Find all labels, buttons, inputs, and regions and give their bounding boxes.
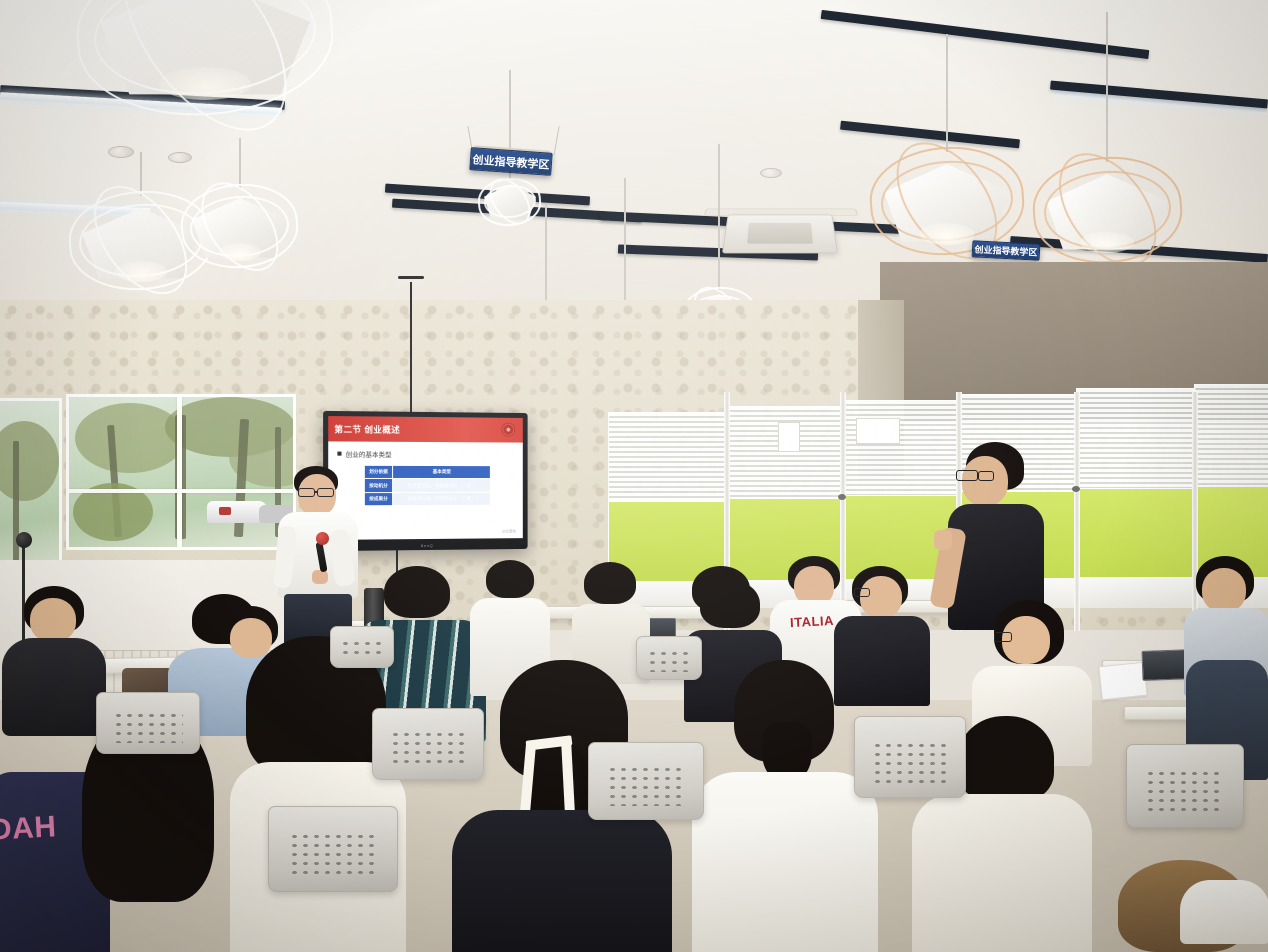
student-head (1202, 568, 1246, 612)
lamp-cord (239, 138, 241, 188)
shirt-logo-text: ITALIA (790, 613, 835, 630)
chair-perforation (872, 741, 948, 784)
classroom-photo: 创业指导教学区 创业指导教学区 (0, 0, 1268, 952)
lamp-cord (624, 178, 626, 306)
pendant-lamp (484, 180, 536, 224)
ceiling-speaker (168, 152, 192, 163)
classroom-chair[interactable] (96, 692, 200, 754)
chair-perforation (607, 765, 686, 806)
window-mullion (177, 397, 182, 547)
pendant-lamp (884, 152, 1010, 252)
chair-perforation (1145, 769, 1225, 813)
table-header-cell: 划分依据 (364, 465, 392, 479)
partition-glass (1194, 384, 1268, 487)
ceiling-speaker (108, 146, 134, 158)
table-row-value: 生存型创业、机会型创业（二类） (393, 479, 491, 492)
lamp-cord (1106, 12, 1108, 162)
university-emblem-icon (502, 423, 516, 437)
partition-knob (838, 494, 846, 500)
pendant-lamp (192, 188, 288, 266)
glasses-icon (956, 470, 978, 481)
pendant-lamp (82, 196, 200, 288)
student-head (962, 456, 1008, 506)
lamp-glow (919, 223, 974, 245)
slide-bullet-text: 创业的基本类型 (346, 449, 392, 459)
car-outside (207, 501, 267, 523)
slide-title-band: 第二节 创业概述 (328, 416, 523, 443)
table-row-label: 按动机分 (364, 479, 392, 493)
student-hand (934, 530, 952, 550)
lamp-wireframe (477, 176, 544, 228)
student-hair (700, 580, 760, 628)
chair-perforation (647, 649, 692, 672)
student-foreground-center-left (236, 636, 396, 952)
ceiling-sign-rear: 创业指导教学区 (972, 240, 1041, 261)
lamp-cord (140, 152, 142, 196)
chair-perforation (113, 711, 184, 743)
partition-base (1076, 577, 1196, 608)
partition-green-panel (1076, 489, 1196, 577)
partition-glass (608, 412, 728, 502)
classroom-chair[interactable] (1126, 744, 1244, 828)
student-shirt (692, 772, 878, 952)
tv-cable (410, 282, 412, 414)
glasses-icon (317, 488, 334, 497)
classroom-chair[interactable] (636, 636, 702, 680)
pendant-lamp (1046, 162, 1168, 260)
classroom-chair[interactable] (588, 742, 704, 820)
lamp-glow (219, 243, 261, 260)
classroom-chair[interactable] (330, 626, 394, 668)
tv-cable (398, 276, 424, 279)
window-mullion (69, 489, 293, 493)
student-foreground-white (700, 660, 870, 952)
mic-head-icon (16, 532, 32, 548)
paper-sheet (1098, 662, 1147, 701)
table-row-label: 按成果分 (364, 492, 392, 506)
slide-footer: 创业基础 (502, 529, 516, 534)
partition-panel (1076, 388, 1196, 608)
classroom-chair[interactable] (268, 806, 398, 892)
classroom-chair[interactable] (372, 708, 484, 780)
pendant-lamp (100, 0, 310, 110)
slide-table: 划分依据 基本类型 按动机分 生存型创业、机会型创业（二类） 按成果分 创建新公… (364, 465, 491, 507)
student-shirt (912, 794, 1092, 952)
table-row-value: 创建新公司、创新型创业（二类） (393, 492, 491, 506)
partition-post (1074, 392, 1080, 631)
chair-perforation (340, 639, 384, 661)
student-hair (384, 566, 450, 618)
student-back-left-1 (8, 586, 104, 736)
chair-perforation (390, 730, 466, 767)
student-hair (584, 562, 636, 604)
chair-perforation (289, 832, 377, 877)
table-header-cell: 基本类型 (393, 465, 491, 478)
ceiling-speaker (760, 168, 782, 178)
bullet-square-icon (337, 452, 341, 456)
table-row: 按成果分 创建新公司、创新型创业（二类） (364, 492, 490, 506)
lamp-glow (1080, 232, 1134, 254)
slide-bullet-row: 创业的基本类型 (337, 449, 514, 460)
presenter-hand (312, 570, 328, 584)
window-main (66, 394, 296, 550)
student-shirt (2, 638, 106, 736)
notice-paper (856, 418, 900, 444)
window-left (0, 398, 62, 574)
student-shirt (452, 810, 672, 952)
table-header-row: 划分依据 基本类型 (364, 465, 490, 479)
notice-paper (778, 422, 800, 452)
tv-brand-label: BenQ (421, 543, 434, 548)
glasses-icon (978, 471, 994, 481)
glasses-icon (994, 632, 1012, 642)
air-conditioner-unit (722, 215, 838, 254)
student-foreground-white-cap (1180, 880, 1268, 952)
shirt-logo-text: DAH (0, 810, 57, 847)
student-head (860, 576, 902, 618)
glasses-icon (298, 488, 315, 497)
lamp-glow (159, 67, 251, 100)
lamp-glow (115, 261, 167, 281)
student-head (30, 598, 76, 642)
slide-title: 第二节 创业概述 (334, 423, 400, 436)
student-hair (486, 560, 534, 598)
window-glass (69, 397, 293, 547)
glasses-icon (854, 588, 870, 597)
lamp-cord (946, 34, 948, 152)
partition-glass (1076, 388, 1196, 489)
ceiling-beam (821, 10, 1150, 59)
table-row: 按动机分 生存型创业、机会型创业（二类） (364, 479, 490, 493)
microphone-head-icon (316, 532, 329, 545)
classroom-chair[interactable] (854, 716, 966, 798)
partition-knob (1072, 486, 1080, 492)
student-hair (958, 716, 1054, 802)
lamp-cord (718, 144, 720, 290)
lamp-wireframe (72, 0, 339, 123)
white-cap (1180, 880, 1268, 944)
partition-glass (726, 406, 844, 499)
